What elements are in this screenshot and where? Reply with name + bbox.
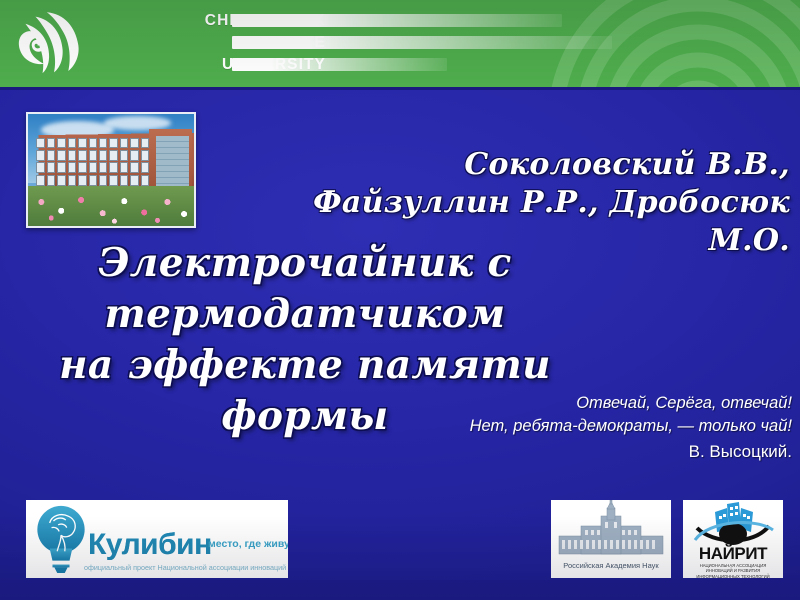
slide-header-banner: CHELYABINSK STATE UNIVERSITY [0,0,800,87]
photo-flower-field [28,186,194,226]
header-decorative-bars [232,14,612,80]
header-underline [0,87,800,90]
university-building-photo [26,112,196,228]
presentation-slide: CHELYABINSK STATE UNIVERSITY Соколовский… [0,0,800,600]
photo-building-glass-facade [156,136,189,186]
epigraph-line-2: Нет, ребята-демократы, — только чай! [330,415,792,438]
epigraph-author: В. Высоцкий. [330,442,792,462]
kulibin-logo: Кулибин место, где живут инновации офици… [26,500,288,578]
header-bar-2 [232,36,612,49]
header-bar-3 [232,58,447,71]
authors-line-2: Файзуллин Р.Р., Дробосюк [290,184,790,222]
photo-building-windows [36,138,149,186]
title-line-1: Электрочайник с [40,238,570,289]
kulibin-logo-subtitle: официальный проект Национальной ассоциац… [84,563,288,572]
authors-line-1: Соколовский В.В., [290,146,790,184]
russian-academy-of-sciences-logo: Российская Академия Наук [551,500,671,578]
nairit-logo-name: НАЙРИТ [683,544,783,564]
header-bar-1 [232,14,562,27]
title-line-2: термодатчиком [40,289,570,340]
ran-logo-caption: Российская Академия Наук [551,561,671,570]
nairit-logo: НАЙРИТ НАЦИОНАЛЬНАЯ АССОЦИАЦИЯ ИННОВАЦИЙ… [683,500,783,578]
lightbulb-brain-icon [32,504,90,574]
kulibin-logo-tagline: место, где живут инновации [208,538,288,550]
slide-bottom-edge [0,580,800,600]
academy-building-icon [551,500,671,562]
nairit-logo-subtitle: НАЦИОНАЛЬНАЯ АССОЦИАЦИЯ ИННОВАЦИЙ И РАЗВ… [686,563,780,578]
nairit-globe-icon [683,500,783,550]
epigraph-quote: Отвечай, Серёга, отвечай! Нет, ребята-де… [330,392,792,438]
kulibin-logo-name: Кулибин [88,528,212,562]
chelyabinsk-state-university-logo-icon [18,8,90,76]
epigraph-line-1: Отвечай, Серёга, отвечай! [330,392,792,415]
